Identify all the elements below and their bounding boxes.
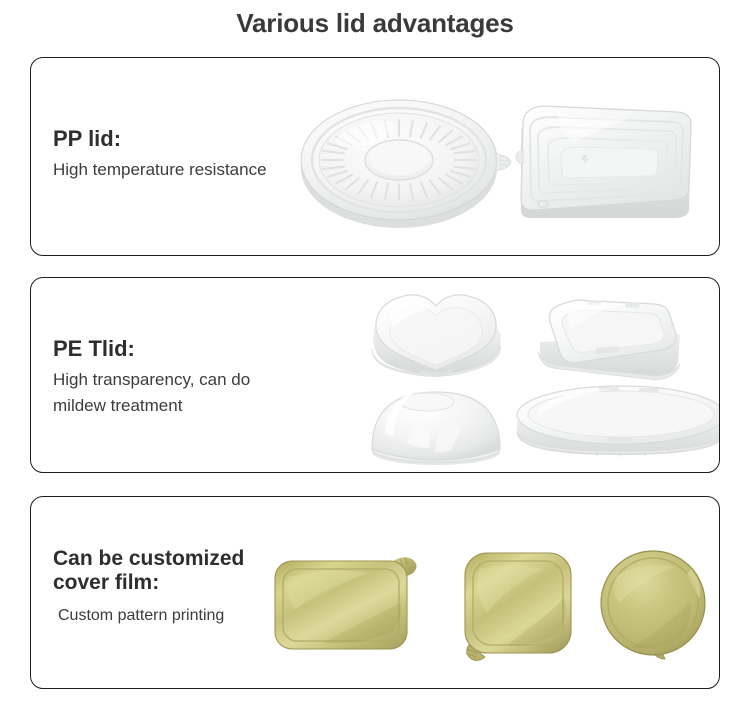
product-gold-rectangular-cover-film (269, 547, 429, 657)
panel-pp-lid-heading: PP lid: (53, 126, 267, 152)
panel-pe-lid-heading: PE Tlid: (53, 336, 250, 362)
product-round-ribbed-pp-lid (299, 84, 514, 234)
product-heart-shaped-pe-lid (356, 286, 516, 391)
product-oval-flat-pe-lid (511, 381, 720, 467)
panel-cover-film-heading: Can be customized cover film: (53, 547, 244, 595)
product-rectangular-pp-lid (499, 84, 714, 234)
panel-pp-lid-description: High temperature resistance (53, 157, 267, 183)
panel-cover-film-description: Custom pattern printing (53, 604, 244, 629)
panel-cover-film-text: Can be customized cover film: Custom pat… (53, 547, 244, 629)
panel-cover-film: Can be customized cover film: Custom pat… (30, 496, 720, 689)
panel-pe-lid: PE Tlid: High transparency, can do milde… (30, 277, 720, 473)
product-square-dome-pe-lid (526, 290, 701, 390)
page-title: Various lid advantages (0, 8, 750, 39)
product-gold-round-cover-film (591, 545, 720, 665)
panel-pe-lid-description: High transparency, can do mildew treatme… (53, 367, 250, 420)
panel-pe-lid-text: PE Tlid: High transparency, can do milde… (53, 336, 250, 419)
panel-pp-lid-text: PP lid: High temperature resistance (53, 126, 267, 183)
product-gold-square-cover-film (455, 545, 595, 665)
panel-pp-lid: PP lid: High temperature resistance (30, 57, 720, 256)
product-round-dome-pe-lid (361, 378, 511, 470)
